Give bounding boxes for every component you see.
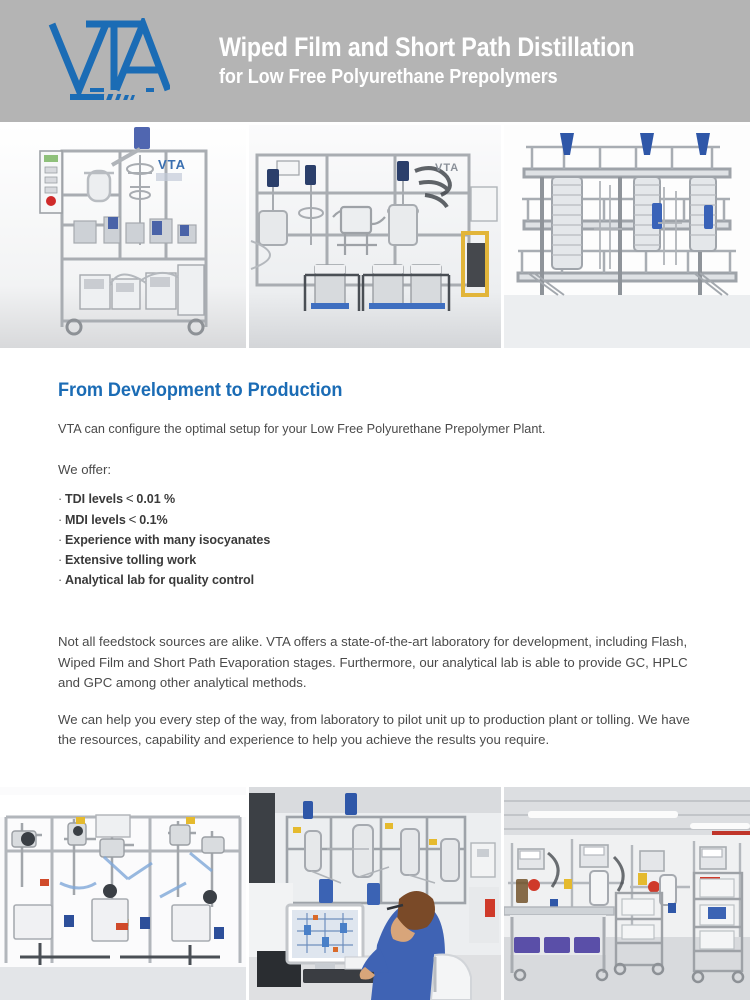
bullet-value: 0.01 % [136, 491, 175, 506]
bullet-value: 0.1% [139, 512, 167, 527]
page-subtitle: for Low Free Polyurethane Prepolymers [219, 65, 634, 90]
main-content: From Development to Production VTA can c… [0, 348, 750, 751]
page-title: Wiped Film and Short Path Distillation [219, 33, 634, 63]
photo-lab-scale-distillation-skid: VTA [0, 125, 246, 348]
photo-pilot-plant-unit: VTA [249, 125, 501, 348]
photo-production-plant [504, 125, 750, 348]
section-heading: From Development to Production [58, 379, 648, 402]
list-item: ·Analytical lab for quality control [58, 570, 660, 590]
page-header: Wiped Film and Short Path Distillation f… [0, 0, 750, 122]
bullet-operator: < [123, 490, 136, 506]
brochure-page: Wiped Film and Short Path Distillation f… [0, 0, 750, 1000]
list-item: ·TDI levels<0.01 % [58, 488, 660, 509]
bullet-marker: · [58, 552, 62, 567]
bullet-marker: · [58, 491, 62, 506]
bullet-text: Analytical lab for quality control [65, 572, 254, 587]
bullet-text: TDI levels [65, 491, 123, 506]
vta-logo-icon [46, 18, 170, 104]
list-item: ·Extensive tolling work [58, 550, 660, 570]
offer-bullet-list: ·TDI levels<0.01 % ·MDI levels<0.1% ·Exp… [58, 488, 692, 590]
bullet-text: Experience with many isocyanates [65, 532, 270, 547]
header-title-block: Wiped Film and Short Path Distillation f… [215, 33, 691, 89]
list-item: ·MDI levels<0.1% [58, 509, 660, 530]
bullet-marker: · [58, 512, 62, 527]
offer-label: We offer: [58, 462, 692, 477]
bullet-marker: · [58, 532, 62, 547]
list-item: ·Experience with many isocyanates [58, 530, 660, 550]
vta-logo [0, 0, 215, 122]
bullet-text: Extensive tolling work [65, 552, 196, 567]
bullet-operator: < [126, 511, 139, 527]
photo-analytical-laboratory [504, 787, 750, 1000]
bullet-marker: · [58, 572, 62, 587]
gallery-top: VTA [0, 125, 750, 348]
photo-process-piping-rig [0, 787, 246, 1000]
svg-text:VTA: VTA [158, 157, 186, 172]
lead-paragraph: VTA can configure the optimal setup for … [58, 419, 667, 438]
svg-text:VTA: VTA [435, 162, 459, 174]
photo-operator-at-control-station [249, 787, 501, 1000]
body-paragraph-2: We can help you every step of the way, f… [58, 710, 692, 751]
body-paragraph-1: Not all feedstock sources are alike. VTA… [58, 632, 692, 694]
bullet-text: MDI levels [65, 512, 126, 527]
gallery-bottom [0, 787, 750, 1000]
